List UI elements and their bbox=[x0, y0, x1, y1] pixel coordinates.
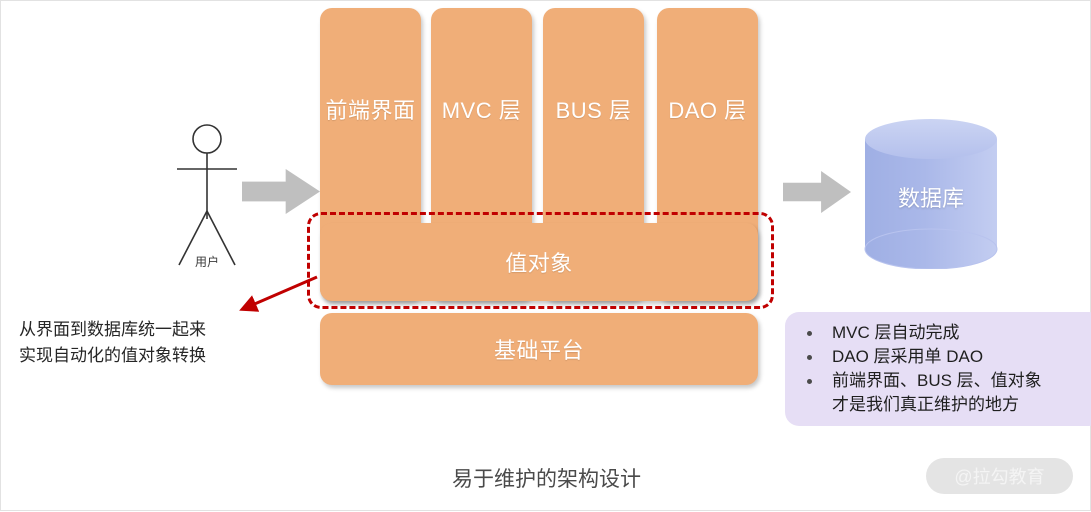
layer-label: MVC 层 bbox=[442, 93, 522, 125]
architecture-diagram-canvas: 用户 前端界面 MVC 层 BUS 层 DAO 层 值对象 基础平台 bbox=[1, 1, 1091, 512]
layer-label: DAO 层 bbox=[668, 93, 746, 125]
stick-figure-icon bbox=[169, 123, 245, 273]
actor-label: 用户 bbox=[169, 253, 245, 270]
watermark: @拉勾教育 bbox=[926, 458, 1073, 494]
layer-label: 前端界面 bbox=[325, 93, 415, 125]
layer-label: 基础平台 bbox=[494, 333, 584, 365]
database-cylinder-icon bbox=[862, 119, 1000, 269]
left-annotation-line-2: 实现自动化的值对象转换 bbox=[19, 343, 269, 369]
arrow-right-icon-user-to-layers bbox=[242, 169, 320, 214]
list-item: MVC 层自动完成 bbox=[797, 321, 1091, 345]
arrow-right-icon-layers-to-database bbox=[783, 171, 851, 213]
notes-bullet-list: MVC 层自动完成 DAO 层采用单 DAO 前端界面、BUS 层、值对象 才是… bbox=[797, 321, 1091, 417]
layer-label: BUS 层 bbox=[556, 93, 632, 125]
left-annotation: 从界面到数据库统一起来 实现自动化的值对象转换 bbox=[19, 317, 269, 369]
list-item: 前端界面、BUS 层、值对象 才是我们真正维护的地方 bbox=[797, 369, 1091, 417]
value-object-highlight-border bbox=[307, 212, 774, 309]
callout-arrow-icon bbox=[229, 273, 324, 318]
notes-panel: MVC 层自动完成 DAO 层采用单 DAO 前端界面、BUS 层、值对象 才是… bbox=[785, 312, 1091, 426]
list-item: DAO 层采用单 DAO bbox=[797, 345, 1091, 369]
layer-box-platform[interactable]: 基础平台 bbox=[320, 313, 758, 385]
left-annotation-line-1: 从界面到数据库统一起来 bbox=[19, 317, 269, 343]
